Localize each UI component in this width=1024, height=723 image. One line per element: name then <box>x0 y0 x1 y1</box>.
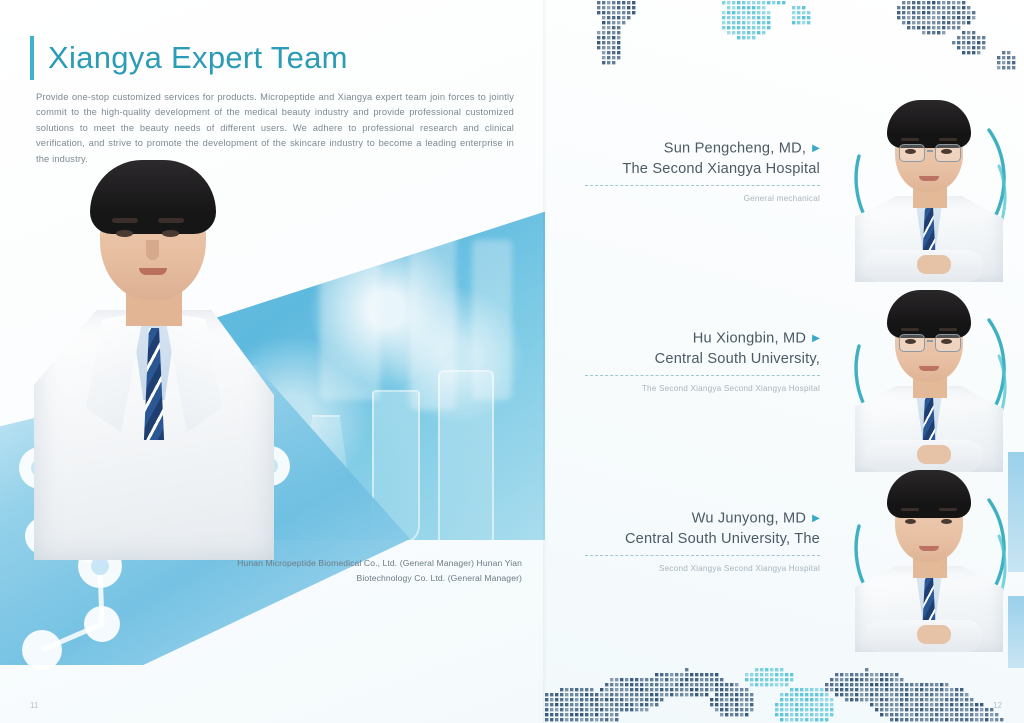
expert-text-block: Wu Junyong, MD▶ Central South University… <box>585 508 820 575</box>
eye <box>162 230 179 237</box>
hair <box>887 290 971 338</box>
expert-name-text: Sun Pengcheng, MD, <box>664 140 806 156</box>
expert-card[interactable]: Sun Pengcheng, MD,▶ The Second Xiangya H… <box>545 92 1024 282</box>
eyebrow <box>901 138 919 141</box>
nose <box>146 240 159 260</box>
page-number-left: 11 <box>30 701 38 710</box>
eye <box>905 149 916 154</box>
left-page: Xiangya Expert Team Provide one-stop cus… <box>0 0 545 723</box>
eye <box>116 230 133 237</box>
expert-name-text: Wu Junyong, MD <box>692 510 806 526</box>
right-page: Sun Pengcheng, MD,▶ The Second Xiangya H… <box>545 0 1024 723</box>
eyebrow <box>939 508 957 511</box>
hair <box>887 470 971 518</box>
expert-card[interactable]: Wu Junyong, MD▶ Central South University… <box>545 462 1024 652</box>
mouth <box>919 546 939 551</box>
world-map-dots-top-icon <box>545 0 1024 106</box>
expert-text-block: Hu Xiongbin, MD▶ Central South Universit… <box>585 328 820 395</box>
expert-name-line2: The Second Xiangya Hospital <box>585 159 820 180</box>
eyeglasses-bridge <box>927 340 933 342</box>
edge-accent-strip <box>1008 452 1024 572</box>
expert-photo <box>843 282 1009 472</box>
expert-name-line2: Central South University, <box>585 349 820 370</box>
eyebrow <box>158 218 184 223</box>
expert-name-line1: Sun Pengcheng, MD,▶ <box>585 138 820 159</box>
edge-accent-strip <box>1008 596 1024 668</box>
eye <box>941 339 952 344</box>
eye <box>905 339 916 344</box>
expert-name-line1: Hu Xiongbin, MD▶ <box>585 328 820 349</box>
world-map-dots-bottom-icon <box>545 648 1024 723</box>
expert-subtitle: The Second Xiangya Second Xiangya Hospit… <box>585 383 820 395</box>
hair <box>90 160 216 234</box>
expert-name-line2: Central South University, The <box>585 529 820 550</box>
eyeglasses-bridge <box>927 150 933 152</box>
hero-collage <box>0 150 545 675</box>
chevron-right-icon[interactable]: ▶ <box>812 328 820 349</box>
mouth <box>919 176 939 181</box>
page-fold-seam <box>543 0 547 723</box>
main-portrait <box>28 160 278 560</box>
mouth <box>139 268 167 275</box>
page-number-right: 12 <box>993 701 1002 710</box>
divider <box>585 375 820 376</box>
divider <box>585 555 820 556</box>
page-title: Xiangya Expert Team <box>30 36 348 80</box>
eyebrow <box>901 328 919 331</box>
expert-name-text: Hu Xiongbin, MD <box>693 330 806 346</box>
eye <box>941 519 952 524</box>
divider <box>585 185 820 186</box>
expert-photo <box>843 462 1009 652</box>
hand <box>917 625 951 644</box>
expert-subtitle: Second Xiangya Second Xiangya Hospital <box>585 563 820 575</box>
flask-icon <box>438 370 494 544</box>
eye <box>941 149 952 154</box>
chevron-right-icon[interactable]: ▶ <box>812 508 820 529</box>
hair <box>887 100 971 148</box>
expert-subtitle: General mechanical <box>585 193 820 205</box>
brochure-spread: Xiangya Expert Team Provide one-stop cus… <box>0 0 1024 723</box>
eyebrow <box>939 138 957 141</box>
eyebrow <box>939 328 957 331</box>
expert-name-line1: Wu Junyong, MD▶ <box>585 508 820 529</box>
eye <box>905 519 916 524</box>
expert-card[interactable]: Hu Xiongbin, MD▶ Central South Universit… <box>545 282 1024 472</box>
expert-photo <box>843 92 1009 282</box>
eyebrow <box>112 218 138 223</box>
expert-text-block: Sun Pengcheng, MD,▶ The Second Xiangya H… <box>585 138 820 205</box>
company-caption: Hunan Micropeptide Biomedical Co., Ltd. … <box>236 556 522 585</box>
eyebrow <box>901 508 919 511</box>
mouth <box>919 366 939 371</box>
chevron-right-icon[interactable]: ▶ <box>812 138 820 159</box>
title-text: Xiangya Expert Team <box>48 40 348 76</box>
hand <box>917 255 951 274</box>
title-accent-bar <box>30 36 34 80</box>
